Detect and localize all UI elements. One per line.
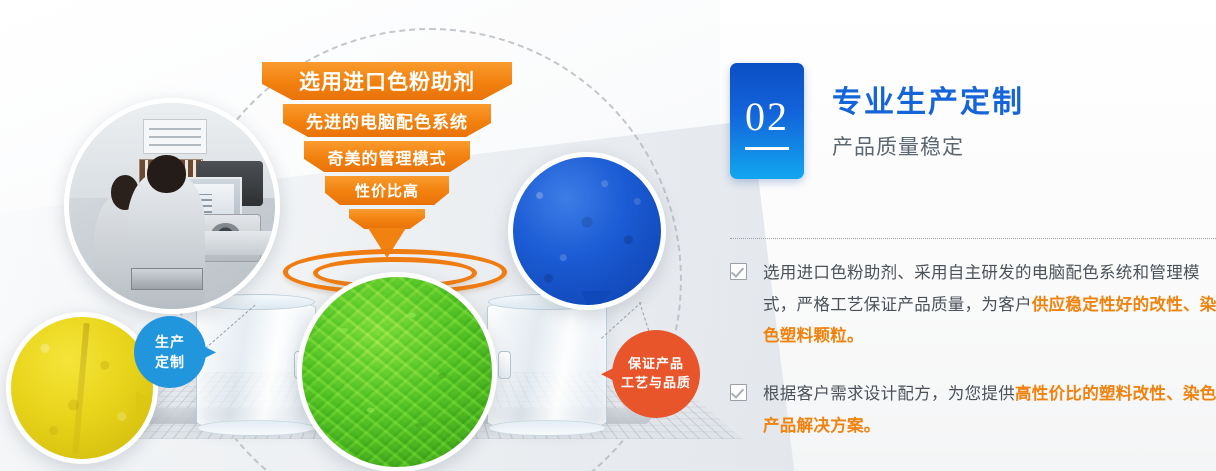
green-granules-highlights [302,277,492,467]
funnel-tier-4: 性价比高 [325,176,449,205]
funnel-tier-2: 先进的电脑配色系统 [283,104,491,137]
section-title: 专业生产定制 [832,85,1024,121]
callout-line-2: 工艺与品质 [621,374,691,393]
funnel-tier-1: 选用进口色粉助剂 [262,62,512,100]
funnel-tier-3: 奇美的管理模式 [304,141,470,172]
bullet-text-2: 根据客户需求设计配方，为您提供高性价比的塑料改性、染色产品解决方案。 [763,379,1216,442]
callout-production-customization: 生产 定制 [134,316,206,388]
process-funnel: 选用进口色粉助剂 先进的电脑配色系统 奇美的管理模式 性价比高 [262,62,512,247]
callout-quality-guarantee: 保证产品 工艺与品质 [612,330,700,418]
section-heading-group: 专业生产定制 产品质量稳定 [832,63,1024,161]
feature-banner: 选用进口色粉助剂 先进的电脑配色系统 奇美的管理模式 性价比高 生产 定制 保证… [0,0,1216,471]
section-number: 02 [745,93,789,150]
content-panel: 02 专业生产定制 产品质量稳定 选用进口色粉助剂、采用自主研发的电脑配色系统和… [720,0,1216,471]
callout-line-1: 保证产品 [628,355,684,374]
yellow-pigment-photo [6,312,158,464]
check-icon [730,384,747,401]
section-subtitle: 产品质量稳定 [832,131,1024,161]
section-header: 02 专业生产定制 产品质量稳定 [730,63,1024,179]
lab-drawer [131,268,203,291]
section-divider [730,238,1216,239]
bullet-plain-2: 根据客户需求设计配方，为您提供 [763,385,1015,403]
check-icon [730,263,747,280]
callout-line-2: 定制 [155,352,185,372]
cylinder-handle-icon [498,351,511,379]
bullet-text-1: 选用进口色粉助剂、采用自主研发的电脑配色系统和管理模式，严格工艺保证产品质量，为… [763,258,1216,353]
lab-notice-board [143,119,207,154]
callout-line-1: 生产 [155,332,185,352]
blue-pigment-photo [508,152,666,310]
list-item: 选用进口色粉助剂、采用自主研发的电脑配色系统和管理模式，严格工艺保证产品质量，为… [730,258,1216,353]
lab-photo [64,98,280,314]
glass-cylinder-right [487,300,607,430]
blue-pigment-texture [513,157,661,305]
feature-list: 选用进口色粉助剂、采用自主研发的电脑配色系统和管理模式，严格工艺保证产品质量，为… [730,258,1216,468]
funnel-tier-5-blank [349,209,425,229]
list-item: 根据客户需求设计配方，为您提供高性价比的塑料改性、染色产品解决方案。 [730,379,1216,442]
green-granules-photo [297,272,497,471]
section-number-badge: 02 [730,63,804,179]
